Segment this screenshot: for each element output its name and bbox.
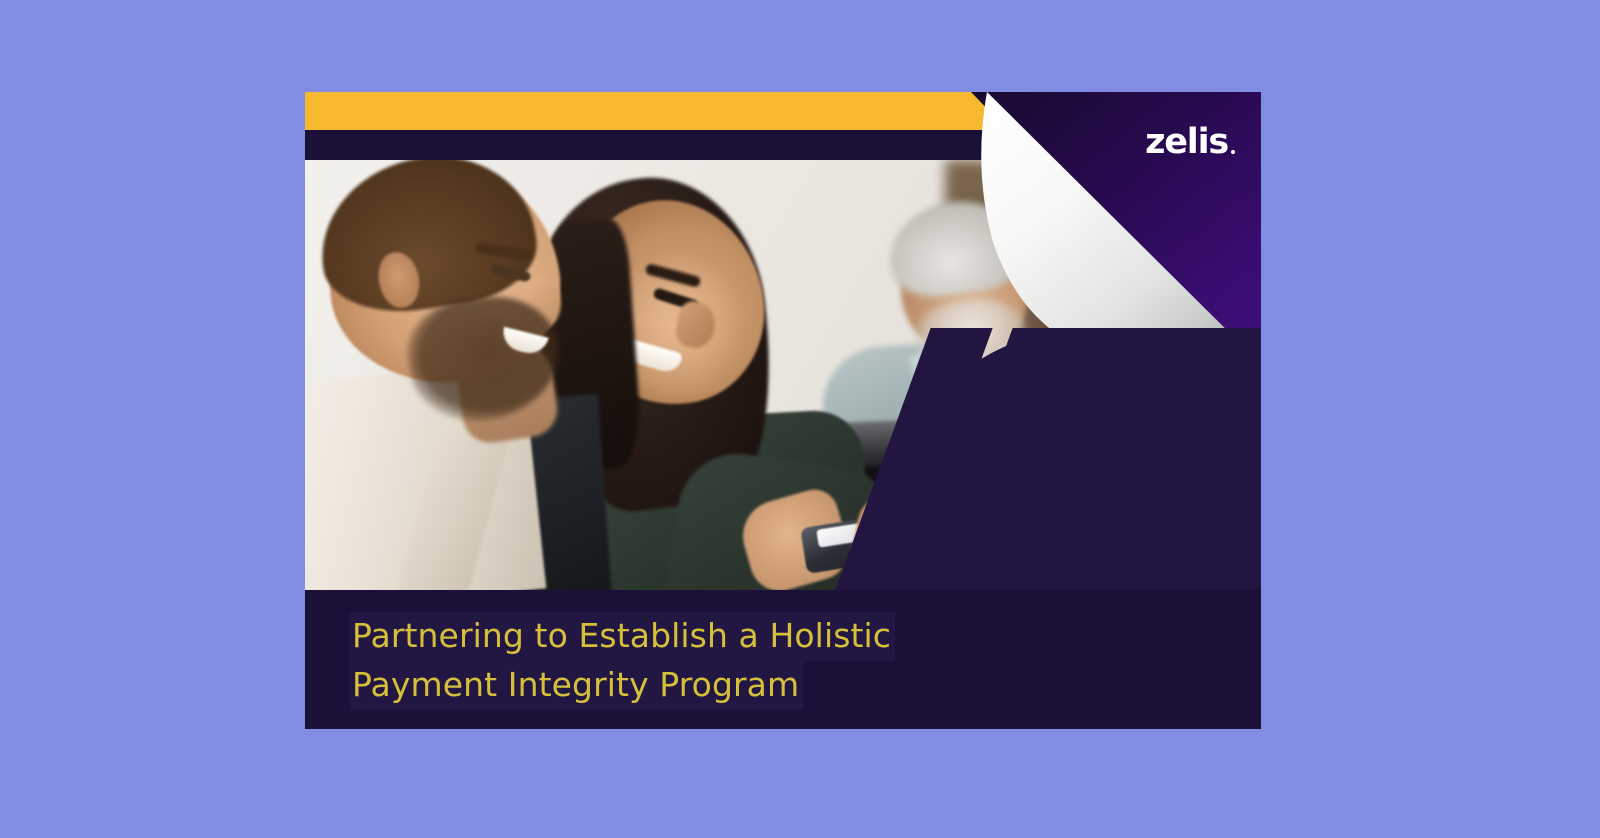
cover-title-line-2: Payment Integrity Program [350,661,803,710]
zelis-wordmark: zelis [1145,126,1228,159]
cover-title: Partnering to Establish a Holistic Payme… [350,612,895,710]
title-band: Partnering to Establish a Holistic Payme… [305,590,1261,729]
trademark-dot-icon [1231,150,1235,154]
zelis-logo: zelis [1145,126,1235,159]
cover-title-line-1: Partnering to Establish a Holistic [350,612,895,661]
document-cover-card: zelis Partnering to Establish a Holistic… [305,92,1261,729]
